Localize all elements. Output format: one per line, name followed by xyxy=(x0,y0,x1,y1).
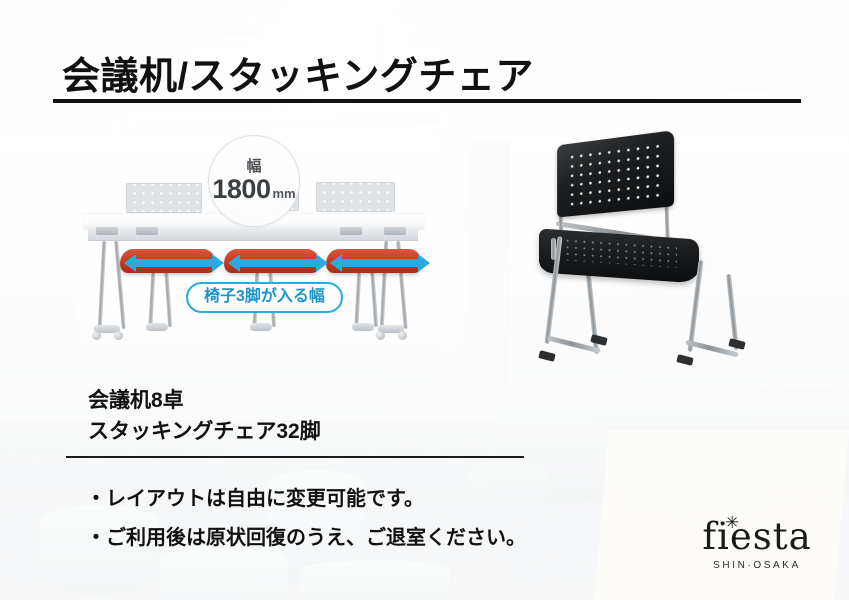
table-hinge xyxy=(384,227,406,235)
spec-line-tables: 会議机8卓 xyxy=(88,385,321,416)
logo-wordmark: fiesta ✳ xyxy=(697,518,817,555)
chair-foot xyxy=(146,323,168,331)
logo-word-text: fiesta xyxy=(702,515,811,558)
chair-frame-foot-cap xyxy=(728,338,745,350)
usage-notes-list: ・レイアウトは自由に変更可能です。 ・ご利用後は原状回復のうえ、ご退室ください。 xyxy=(86,480,526,558)
chair-backrest-perforation xyxy=(568,141,660,207)
chair-backrest xyxy=(557,130,674,217)
table-hinge xyxy=(96,227,118,235)
fiesta-logo: fiesta ✳ SHIN·OSAKA xyxy=(697,518,817,571)
chair-frame-foot-cap xyxy=(538,350,555,362)
stacking-chair-figure xyxy=(525,128,770,380)
usage-note-restore: ・ご利用後は原状回復のうえ、ご退室ください。 xyxy=(86,519,526,558)
meeting-table-figure: 幅 1800 mm 椅子3脚が入る幅 xyxy=(78,125,468,350)
table-caster xyxy=(376,331,385,340)
width-arrow-icon xyxy=(239,259,317,267)
table-caster xyxy=(92,331,101,340)
chair-foot xyxy=(352,323,374,331)
capacity-caption-pill: 椅子3脚が入る幅 xyxy=(186,282,343,313)
logo-subtitle: SHIN·OSAKA xyxy=(697,560,817,571)
page-title: 会議机/スタッキングチェア xyxy=(62,45,534,100)
width-badge-value: 1800 xyxy=(212,176,270,203)
usage-note-layout: ・レイアウトは自由に変更可能です。 xyxy=(86,480,526,519)
table-modesty-panel xyxy=(126,183,202,213)
title-divider xyxy=(53,99,801,103)
chair-frame-side-rail xyxy=(551,238,556,260)
width-badge: 幅 1800 mm xyxy=(208,135,300,227)
logo-star-icon: ✳ xyxy=(725,515,740,532)
table-hinge xyxy=(136,227,158,235)
width-badge-value-row: 1800 mm xyxy=(212,176,295,203)
chair-foot xyxy=(250,323,272,331)
spec-divider xyxy=(66,456,524,458)
chair-seat-black xyxy=(539,228,699,283)
width-arrow-icon xyxy=(341,259,419,267)
chair-frame-foot-cap xyxy=(676,354,693,366)
table-hinge xyxy=(340,227,362,235)
chair-seat-perforation xyxy=(555,237,677,269)
width-arrow-icon xyxy=(135,259,213,267)
spec-line-chairs: スタッキングチェア32脚 xyxy=(88,416,321,447)
width-badge-label: 幅 xyxy=(246,159,261,174)
slide-canvas: 会議机/スタッキングチェア xyxy=(0,0,849,600)
equipment-spec-list: 会議机8卓 スタッキングチェア32脚 xyxy=(88,385,321,447)
table-modesty-panel xyxy=(316,182,395,212)
table-caster xyxy=(398,331,407,340)
width-badge-unit: mm xyxy=(272,186,295,201)
table-caster xyxy=(114,331,123,340)
